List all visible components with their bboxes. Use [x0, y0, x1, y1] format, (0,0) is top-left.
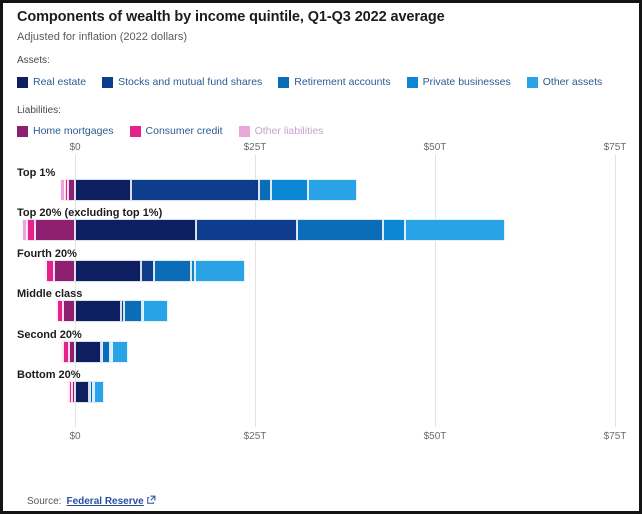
x-axis-tick-label: $75T	[604, 142, 627, 153]
bar-segment-other-assets[interactable]	[308, 179, 358, 201]
bar-segment-private-businesses[interactable]	[383, 219, 405, 241]
x-axis-tick-label: $25T	[244, 431, 267, 442]
bar-segment-home-mortgages[interactable]	[68, 179, 75, 201]
bar-segment-real-estate[interactable]	[75, 179, 131, 201]
bar-segment-other-assets[interactable]	[405, 219, 504, 241]
chart-card: Components of wealth by income quintile,…	[0, 0, 642, 514]
category-label: Top 20% (excluding top 1%)	[17, 207, 162, 219]
bar-row[interactable]	[3, 300, 642, 322]
bar-segment-consumer-credit[interactable]	[27, 219, 36, 241]
source-link[interactable]: Federal Reserve	[66, 496, 143, 507]
bar-segment-home-mortgages[interactable]	[54, 260, 75, 282]
category-label: Middle class	[17, 288, 82, 300]
bar-segment-home-mortgages[interactable]	[35, 219, 75, 241]
bar-segment-real-estate[interactable]	[75, 260, 141, 282]
source-note: Source: Federal Reserve	[27, 495, 156, 507]
bar-segment-home-mortgages[interactable]	[63, 300, 75, 322]
bar-segment-other-liabilities[interactable]	[67, 381, 69, 403]
bar-segment-other-liabilities[interactable]	[45, 260, 47, 282]
x-axis-tick-label: $0	[69, 431, 80, 442]
bar-segment-retirement-accounts[interactable]	[154, 260, 191, 282]
x-axis-tick-label: $25T	[244, 142, 267, 153]
bar-segment-stocks-and-mutual-fund-shares[interactable]	[131, 179, 259, 201]
bar-segment-stocks-and-mutual-fund-shares[interactable]	[196, 219, 297, 241]
bar-segment-private-businesses[interactable]	[271, 179, 308, 201]
bar-segment-other-liabilities[interactable]	[22, 219, 26, 241]
bar-segment-other-assets[interactable]	[94, 381, 104, 403]
bar-segment-consumer-credit[interactable]	[46, 260, 54, 282]
category-label: Fourth 20%	[17, 248, 77, 260]
bar-row[interactable]	[3, 219, 642, 241]
x-axis-tick-label: $50T	[424, 142, 447, 153]
bar-segment-retirement-accounts[interactable]	[102, 341, 109, 363]
source-label: Source:	[27, 496, 61, 507]
bar-segment-stocks-and-mutual-fund-shares[interactable]	[141, 260, 155, 282]
bar-row[interactable]	[3, 341, 642, 363]
bar-segment-other-assets[interactable]	[143, 300, 167, 322]
bar-segment-other-liabilities[interactable]	[60, 179, 65, 201]
x-axis-tick-label: $75T	[604, 431, 627, 442]
bar-segment-real-estate[interactable]	[75, 341, 101, 363]
chart-plot-area: $0$0$25T$25T$50T$50T$75T$75TTop 1%Top 20…	[3, 3, 642, 514]
category-label: Top 1%	[17, 167, 55, 179]
bar-row[interactable]	[3, 260, 642, 282]
bar-segment-consumer-credit[interactable]	[57, 300, 63, 322]
category-label: Bottom 20%	[17, 369, 81, 381]
bar-segment-real-estate[interactable]	[75, 381, 89, 403]
bar-row[interactable]	[3, 179, 642, 201]
category-label: Second 20%	[17, 329, 82, 341]
bar-segment-consumer-credit[interactable]	[65, 179, 68, 201]
bar-segment-consumer-credit[interactable]	[63, 341, 69, 363]
x-axis-tick-label: $0	[69, 142, 80, 153]
bar-segment-other-liabilities[interactable]	[61, 341, 63, 363]
bar-segment-real-estate[interactable]	[75, 300, 121, 322]
bar-row[interactable]	[3, 381, 642, 403]
bar-segment-retirement-accounts[interactable]	[259, 179, 271, 201]
external-link-icon	[147, 495, 156, 507]
bar-segment-real-estate[interactable]	[75, 219, 196, 241]
bar-segment-other-assets[interactable]	[195, 260, 245, 282]
bar-segment-home-mortgages[interactable]	[69, 341, 75, 363]
x-axis-tick-label: $50T	[424, 431, 447, 442]
bar-segment-other-liabilities[interactable]	[56, 300, 58, 322]
bar-segment-retirement-accounts[interactable]	[124, 300, 142, 322]
bar-segment-other-assets[interactable]	[112, 341, 128, 363]
bar-segment-retirement-accounts[interactable]	[297, 219, 383, 241]
